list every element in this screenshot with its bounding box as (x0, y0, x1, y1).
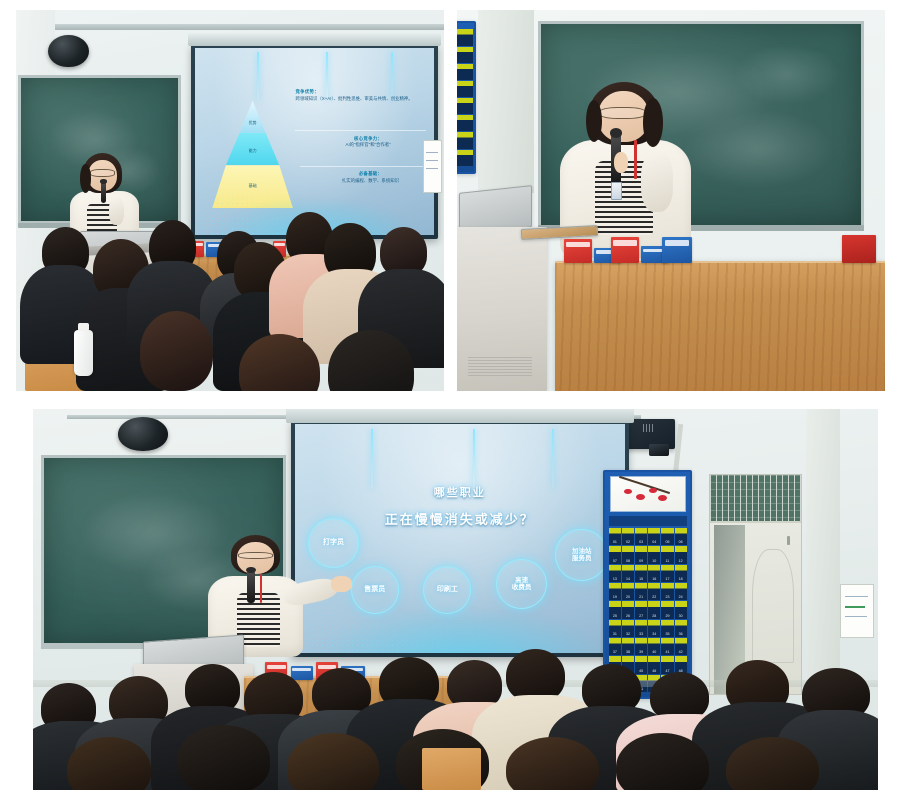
pocket-cell: 17 (661, 565, 673, 582)
slide-disappearing-jobs: 哪些职业 正在慢慢消失或减少？ 打字员 售票员 印刷工 高速 收费员 加油站 服… (295, 424, 625, 652)
podium-vent (468, 357, 532, 378)
pocket-cell: 04 (648, 528, 660, 545)
pocket-cell (457, 29, 473, 45)
pocket-cell: 12 (675, 546, 687, 563)
pyramid-note-divider (295, 130, 426, 131)
pocket-cell (457, 64, 473, 80)
pocket-cell: 42 (675, 638, 687, 655)
slide-light-beam (552, 429, 554, 488)
student-water-bottle (74, 330, 94, 376)
pocket-cell: 13 (609, 565, 621, 582)
painting-blossom (636, 494, 646, 500)
pocket-cell: 06 (675, 528, 687, 545)
numbered-pocket-chart-edge (457, 21, 476, 173)
projector-lens (649, 444, 669, 456)
notice-line (426, 168, 439, 169)
pocket-cell: 10 (648, 546, 660, 563)
wall-pillar-right (806, 409, 840, 683)
pocket-chart-header (609, 516, 687, 526)
pocket-cell (457, 98, 473, 114)
pocket-cell: 33 (635, 620, 647, 637)
lecture-desk (555, 261, 885, 391)
door-transom-window (710, 475, 801, 523)
pocket-cell: 47 (661, 656, 673, 673)
projector-vent (643, 424, 655, 432)
pocket-cell: 30 (675, 601, 687, 618)
pyramid-note-body: 跨领域知识（X+AI）、批判性思维、审美与共情、创业精神。 (295, 96, 412, 101)
pocket-cell (457, 115, 473, 131)
product-box-red (842, 235, 876, 264)
pocket-cell (457, 81, 473, 97)
audience-head (140, 311, 213, 391)
pocket-cell: 20 (622, 583, 634, 600)
pocket-cell: 16 (648, 565, 660, 582)
pocket-cell: 02 (622, 528, 634, 545)
presenter-hand (331, 576, 351, 592)
job-bubble-line: 收费员 (512, 584, 532, 591)
wall-pillar (478, 10, 534, 193)
ceiling-rail (33, 24, 444, 30)
presenter-arm (641, 152, 673, 212)
pocket-cell: 31 (609, 620, 621, 637)
pyramid-note-divider (300, 166, 426, 167)
dome-speaker-icon (48, 35, 89, 67)
job-bubble-gas-station-attendant: 加油站 服务员 (555, 529, 608, 580)
microphone-icon (247, 571, 256, 603)
pocket-cell: 18 (675, 565, 687, 582)
notice-line (845, 616, 867, 617)
pocket-cell: 03 (635, 528, 647, 545)
plum-blossom-painting (610, 476, 686, 512)
pyramid-note-core-competency: 核心竞争力： AI的“指挥官”和“合作者” (310, 136, 427, 149)
pocket-cell: 14 (622, 565, 634, 582)
product-box-red (611, 237, 639, 264)
pocket-cell (457, 47, 473, 63)
pyramid-note-competitive-advantage: 竞争优势： 跨领域知识（X+AI）、批判性思维、审美与共情、创业精神。 (295, 89, 426, 102)
pyramid-note-foundation: 必备基础： 扎实的编程、数学、系统知识 (315, 171, 427, 184)
projection-screen: 哪些职业 正在慢慢消失或减少？ 打字员 售票员 印刷工 高速 收费员 加油站 服… (291, 420, 629, 656)
pocket-cell: 46 (648, 656, 660, 673)
pocket-cell: 29 (661, 601, 673, 618)
wall-notice (840, 584, 874, 637)
chalk-smudge (733, 44, 842, 104)
slide-light-beam (257, 52, 259, 100)
podium (457, 227, 547, 391)
door-panel (752, 549, 794, 663)
pyramid-tier-middle-label: 能力 (249, 148, 257, 154)
slide-light-beam (473, 429, 475, 488)
name-badge (611, 182, 623, 200)
microphone-icon (101, 182, 107, 203)
pocket-cell: 41 (661, 638, 673, 655)
notice-line (845, 596, 868, 597)
photo-lecture-hall-wide-with-jobs-slide: 哪些职业 正在慢慢消失或减少？ 打字员 售票员 印刷工 高速 收费员 加油站 服… (33, 409, 878, 790)
photo-lecture-hall-wide-with-pyramid-slide: 优势 能力 基础 竞争优势： 跨领域知识（X+AI）、批判性思维、审美与共情、创… (16, 10, 444, 391)
pocket-cell: 27 (635, 601, 647, 618)
pocket-cell: 19 (609, 583, 621, 600)
pocket-cell: 28 (648, 601, 660, 618)
pocket-cell: 23 (661, 583, 673, 600)
jobs-slide-title-line-2: 正在慢慢消失或减少？ (385, 509, 535, 528)
slide-ai-skills-pyramid: 优势 能力 基础 竞争优势： 跨领域知识（X+AI）、批判性思维、审美与共情、创… (195, 48, 433, 234)
pocket-cell: 39 (635, 638, 647, 655)
pocket-chart-grid (457, 29, 473, 166)
product-box-red (564, 239, 592, 264)
job-bubble-line: 服务员 (572, 555, 592, 562)
painting-blossom (658, 495, 667, 501)
notice-line (426, 152, 439, 153)
wall-notice (423, 140, 442, 193)
screen-roller-bar (188, 33, 441, 47)
pyramid-tier-top-label: 优势 (249, 120, 257, 126)
pocket-cell: 36 (675, 620, 687, 637)
door-handle[interactable] (787, 536, 790, 545)
pocket-cell: 25 (609, 601, 621, 618)
product-box-blue (291, 666, 313, 679)
audience-head-foreground (177, 725, 270, 790)
pocket-cell: 38 (622, 638, 634, 655)
notice-line (426, 160, 438, 161)
pocket-cell: 24 (675, 583, 687, 600)
presenter-arm (109, 197, 124, 226)
product-box-blue (662, 237, 691, 264)
pocket-cell: 01 (609, 528, 621, 545)
chalk-smudge (682, 109, 835, 189)
pocket-cell: 35 (661, 620, 673, 637)
presenter-hair-side (586, 100, 602, 142)
pocket-cell: 11 (661, 546, 673, 563)
glasses-icon (599, 107, 646, 119)
pocket-cell: 09 (635, 546, 647, 563)
job-bubble-line: 加油站 (572, 548, 592, 555)
pocket-cell: 26 (622, 601, 634, 618)
pocket-cell: 08 (622, 546, 634, 563)
pyramid-note-body: 扎实的编程、数学、系统知识 (342, 178, 399, 183)
glasses-icon (238, 552, 272, 559)
pyramid-tier-top (240, 100, 266, 132)
photo-collage: 优势 能力 基础 竞争优势： 跨领域知识（X+AI）、批判性思维、审美与共情、创… (0, 0, 900, 800)
jobs-slide-title-line-1: 哪些职业 (434, 484, 486, 500)
projection-screen: 优势 能力 基础 竞争优势： 跨领域知识（X+AI）、批判性思维、审美与共情、创… (191, 44, 437, 238)
pocket-cell: 40 (648, 638, 660, 655)
notice-line-green (845, 606, 865, 608)
pocket-cell: 21 (635, 583, 647, 600)
classroom-chair (422, 748, 481, 790)
slide-light-beam (371, 429, 373, 488)
pocket-cell: 34 (648, 620, 660, 637)
pocket-cell: 45 (635, 656, 647, 673)
dome-speaker-icon (118, 417, 169, 451)
lanyard (634, 140, 637, 179)
pocket-cell: 37 (609, 638, 621, 655)
glasses-icon (90, 169, 114, 177)
photo-lecturer-closeup-at-podium (457, 10, 885, 391)
pocket-cell: 05 (661, 528, 673, 545)
painting-blossom (649, 488, 656, 493)
pocket-cell (457, 150, 473, 166)
pocket-cell (457, 132, 473, 148)
pocket-cell: 32 (622, 620, 634, 637)
pocket-cell: 07 (609, 546, 621, 563)
screen-roller-bar (286, 409, 634, 423)
pocket-cell: 22 (648, 583, 660, 600)
painting-blossom (624, 489, 632, 494)
pocket-cell: 15 (635, 565, 647, 582)
pyramid-note-body: AI的“指挥官”和“合作者” (346, 142, 391, 147)
